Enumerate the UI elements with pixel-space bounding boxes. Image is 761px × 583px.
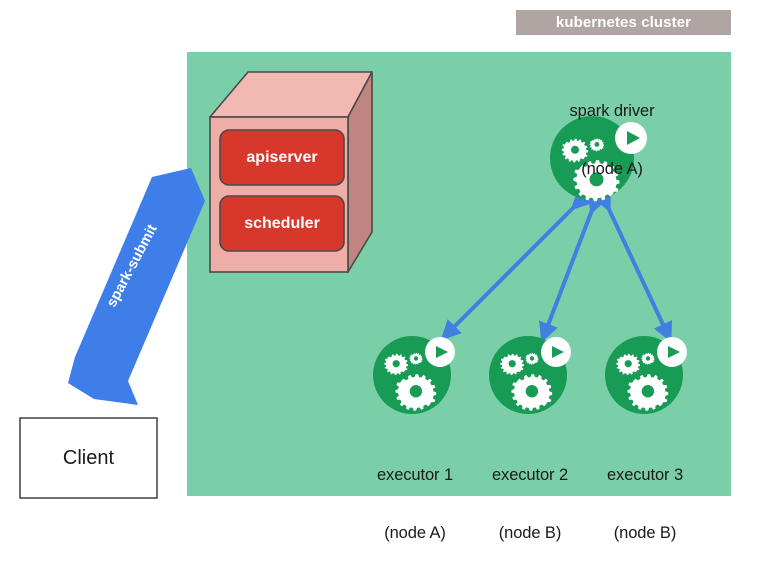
executor-3-label: executor 3 (node B)	[575, 427, 715, 583]
apiserver-label: apiserver	[220, 130, 344, 185]
spark-driver-subtitle: (node A)	[512, 160, 712, 179]
executor-3-title: executor 3	[575, 466, 715, 485]
spark-driver-label: spark driver (node A)	[512, 63, 712, 219]
executor-3-subtitle: (node B)	[575, 524, 715, 543]
spark-submit-arrow	[68, 168, 205, 405]
kubernetes-cluster-banner-label: kubernetes cluster	[516, 10, 731, 35]
diagram-canvas: kubernetes cluster apiserver scheduler s…	[0, 0, 761, 516]
client-label: Client	[20, 418, 157, 498]
scheduler-label: scheduler	[220, 196, 344, 251]
spark-driver-title: spark driver	[512, 102, 712, 121]
